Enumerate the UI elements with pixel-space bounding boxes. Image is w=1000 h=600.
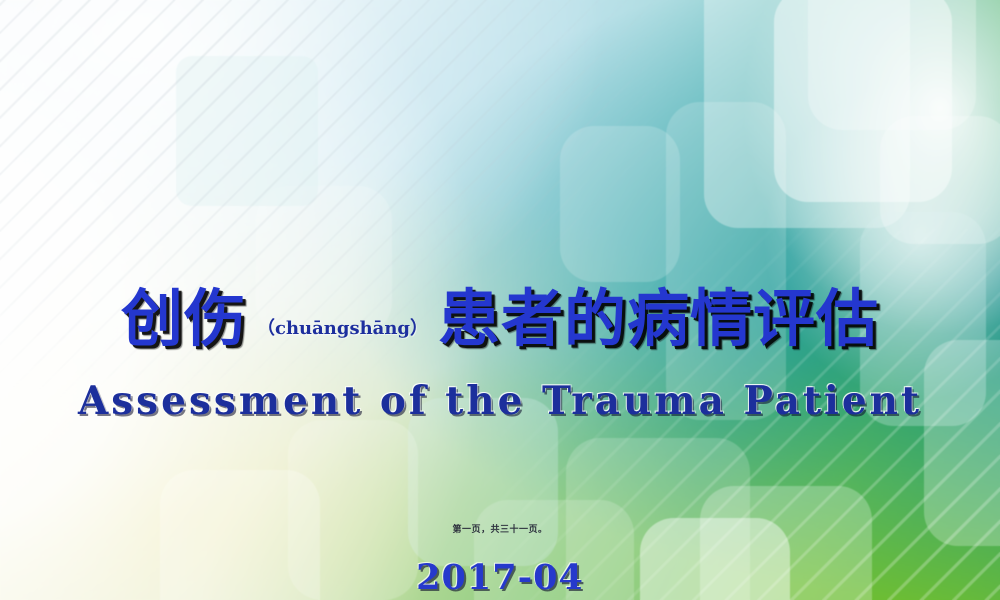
presentation-slide: 创伤 （chuāngshāng） 患者的病情评估 Assessment of t… [0, 0, 1000, 600]
title-chinese-left: 创伤 [121, 288, 247, 350]
title-pinyin-annotation: （chuāngshāng） [247, 314, 438, 350]
slide-content: 创伤 （chuāngshāng） 患者的病情评估 Assessment of t… [0, 0, 1000, 600]
slide-subtitle-english: Assessment of the Trauma Patient [0, 378, 1000, 424]
title-chinese-right: 患者的病情评估 [438, 288, 879, 350]
page-number-note: 第一页，共三十一页。 [0, 522, 1000, 535]
slide-title: 创伤 （chuāngshāng） 患者的病情评估 [0, 288, 1000, 350]
slide-date: 2017-04 [0, 557, 1000, 598]
